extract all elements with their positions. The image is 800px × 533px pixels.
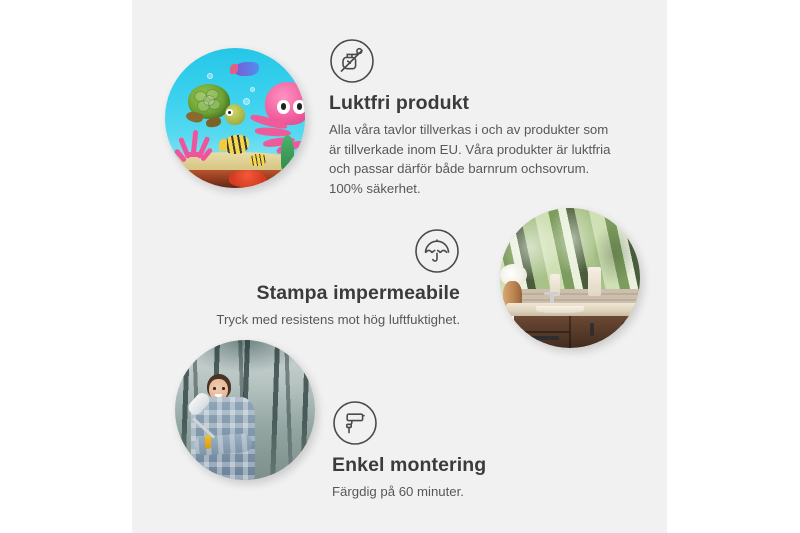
- feature-waterproof-print: Stampa impermeabile Tryck med resistens …: [190, 228, 460, 330]
- product-image-underwater-scene[interactable]: [165, 48, 305, 188]
- person-figure: [189, 374, 267, 480]
- octopus-eye: [293, 100, 305, 114]
- feature-description: Alla våra tavlor tillverkas i och av pro…: [329, 120, 619, 198]
- feature-title: Stampa impermeabile: [190, 281, 460, 305]
- bathroom-photo: [500, 208, 640, 348]
- feature-easy-installation: Enkel montering Färgdig på 60 minuter.: [332, 400, 592, 502]
- feature-title: Enkel montering: [332, 453, 592, 477]
- wood-vanity: [514, 316, 640, 348]
- dispenser-bottle: [588, 267, 601, 296]
- installer-photo: [175, 340, 315, 480]
- underwater-illustration: [165, 48, 305, 188]
- paint-roller-icon: [332, 400, 378, 446]
- octopus-icon: [249, 82, 305, 152]
- fish-icon: [235, 62, 259, 76]
- product-image-woman-paint-roller[interactable]: [175, 340, 315, 480]
- butterfly-fish-icon: [250, 154, 265, 165]
- seaweed-icon: [281, 135, 294, 171]
- feature-description: Tryck med resistens mot hög luftfuktighe…: [190, 310, 460, 330]
- product-image-bathroom-botanical[interactable]: [500, 208, 640, 348]
- sink-basin: [536, 306, 584, 313]
- coral-icon: [173, 126, 215, 168]
- paint-roller-grip: [205, 435, 210, 449]
- sea-turtle-icon: [185, 84, 247, 132]
- turtle-eye: [226, 109, 232, 116]
- eye: [213, 387, 216, 389]
- crab-icon: [229, 170, 265, 187]
- feature-title: Luktfri produkt: [329, 91, 619, 115]
- screenshot-canvas: Luktfri produkt Alla våra tavlor tillver…: [0, 0, 800, 533]
- octopus-eye: [277, 100, 289, 114]
- feature-description: Färgdig på 60 minuter.: [332, 482, 592, 502]
- eye: [222, 387, 225, 389]
- no-spray-bottle-icon: [329, 38, 375, 84]
- feature-odour-free: Luktfri produkt Alla våra tavlor tillver…: [329, 38, 619, 199]
- umbrella-icon: [414, 228, 460, 274]
